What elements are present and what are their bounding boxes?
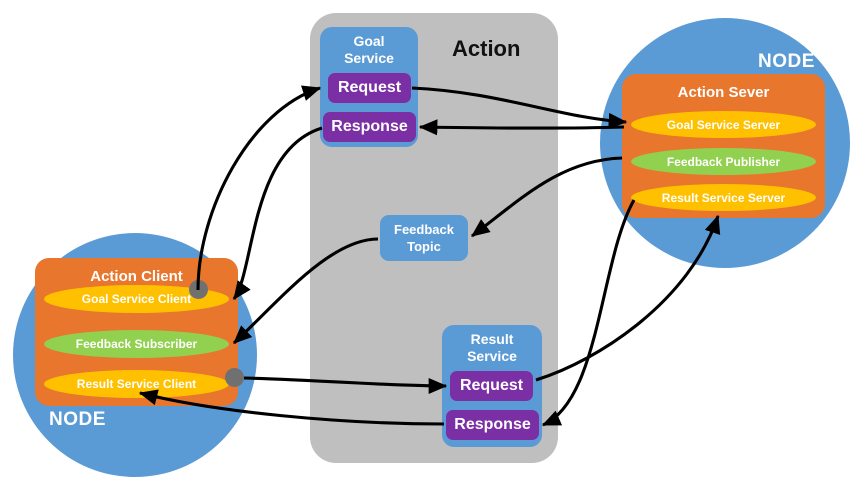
server-node-label: NODE [758,51,815,73]
feedback-topic-line1: Feedback [394,221,454,238]
pill-result-service-server: Result Service Server [631,184,816,211]
goal-service-title-line1: Goal [320,33,418,50]
result-service-title: Result Service [442,331,542,365]
feedback-topic-line2: Topic [394,238,454,255]
pill-result-service-client-label: Result Service Client [77,377,196,391]
pill-goal-service-server-label: Goal Service Server [667,118,780,132]
client-node-label: NODE [49,409,106,431]
result-service-response-label: Response [454,416,530,434]
pill-goal-service-client-label: Goal Service Client [82,292,191,306]
result-service-request-label: Request [460,377,523,395]
diagram-canvas: Action NODE Action Client Goal Service C… [0,0,854,480]
goal-service-request-label: Request [338,79,401,97]
result-service-title-line1: Result [442,331,542,348]
action-client-title: Action Client [35,268,238,285]
goal-service-request: Request [328,73,411,103]
result-service-response: Response [446,410,539,440]
pill-feedback-publisher: Feedback Publisher [631,148,816,175]
client-goal-connector-dot [189,280,208,299]
result-service-request: Request [450,371,533,401]
arrow-response-to-goal-client [234,128,322,299]
client-result-connector-dot [225,368,244,387]
action-server-title: Action Sever [622,84,825,101]
goal-service-response-label: Response [331,118,407,136]
goal-service-title: Goal Service [320,33,418,67]
feedback-topic-box: Feedback Topic [380,215,468,261]
goal-service-title-line2: Service [320,50,418,67]
action-panel-title: Action [452,36,520,62]
pill-feedback-subscriber-label: Feedback Subscriber [76,337,197,351]
goal-service-response: Response [323,112,416,142]
pill-goal-service-server: Goal Service Server [631,111,816,138]
result-service-title-line2: Service [442,348,542,365]
pill-result-service-client: Result Service Client [44,370,229,398]
pill-result-service-server-label: Result Service Server [662,191,785,205]
pill-feedback-subscriber: Feedback Subscriber [44,330,229,358]
pill-feedback-publisher-label: Feedback Publisher [667,155,780,169]
